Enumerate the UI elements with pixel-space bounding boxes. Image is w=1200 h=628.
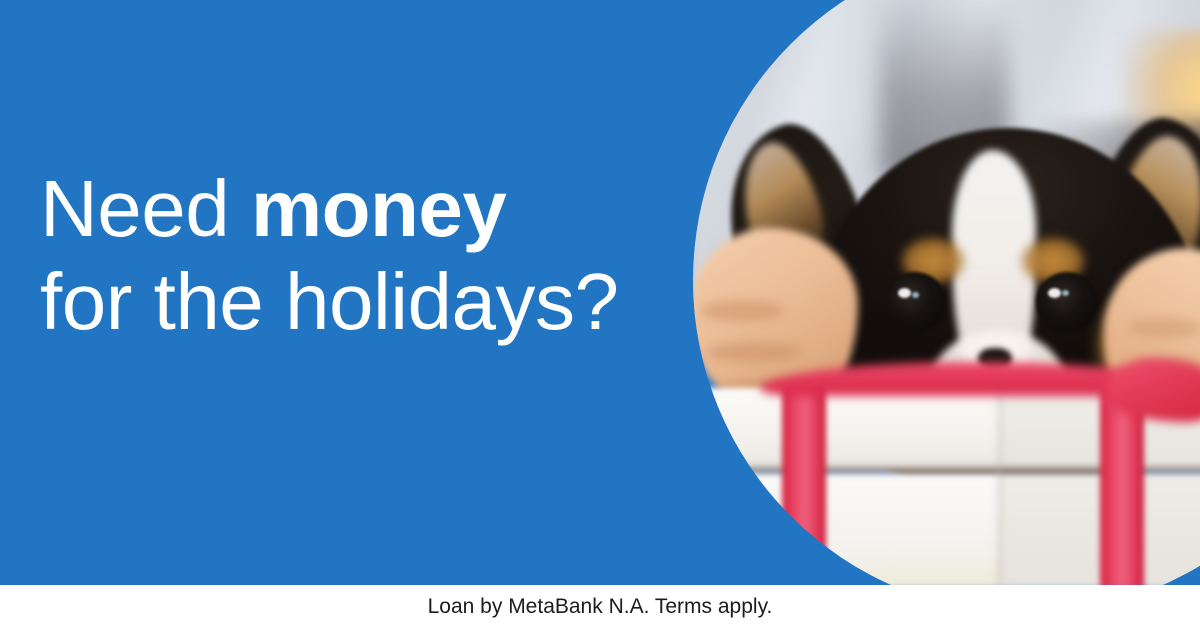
headline-line-1: Need money bbox=[40, 163, 619, 256]
puppy-left-eye-gleam bbox=[898, 288, 911, 298]
right-hand-knuckle bbox=[1128, 318, 1200, 338]
disclaimer-bar: Loan by MetaBank N.A. Terms apply. bbox=[0, 585, 1200, 628]
puppy-left-eye bbox=[884, 272, 946, 332]
gift-box bbox=[700, 388, 1200, 588]
headline: Need money for the holidays? bbox=[40, 163, 619, 349]
puppy-right-eye-gleam-small bbox=[1062, 290, 1069, 296]
left-hand-knuckle bbox=[700, 300, 784, 322]
puppy-right-eye-gleam bbox=[1048, 288, 1061, 298]
puppy-left-eye-gleam-small bbox=[912, 292, 919, 298]
disclaimer-text: Loan by MetaBank N.A. Terms apply. bbox=[428, 595, 773, 619]
promo-banner: Need money for the holidays? Loan by Met… bbox=[0, 0, 1200, 628]
hero-photo-scene bbox=[693, 0, 1200, 614]
hero-photo-circle bbox=[693, 0, 1200, 614]
headline-word-money: money bbox=[251, 164, 506, 253]
headline-line-2: for the holidays? bbox=[40, 256, 619, 349]
headline-word-need: Need bbox=[40, 164, 251, 253]
gift-ribbon-left bbox=[782, 388, 826, 588]
left-hand-knuckle bbox=[706, 342, 802, 362]
puppy-right-eye bbox=[1036, 272, 1098, 332]
gift-ribbon-right bbox=[1100, 388, 1144, 588]
gift-box-corner-edge bbox=[996, 388, 1003, 588]
